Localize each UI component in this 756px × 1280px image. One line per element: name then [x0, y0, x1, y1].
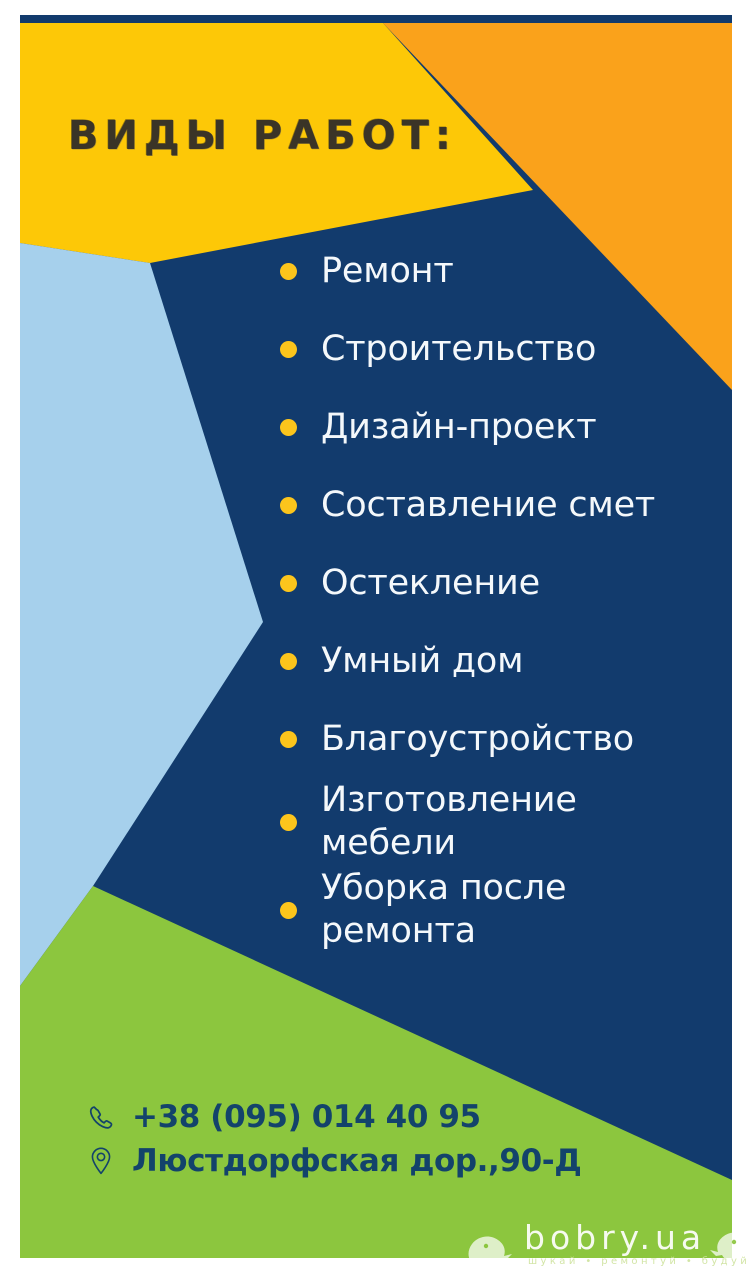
- bullet-icon: [280, 902, 297, 919]
- beaver-eye-right: [732, 1240, 736, 1244]
- phone-icon: [86, 1101, 116, 1133]
- list-item: Ремонт: [280, 232, 740, 310]
- service-label: Составление смет: [321, 484, 655, 527]
- service-label: Остекление: [321, 562, 540, 605]
- bottom-gutter: [0, 1258, 466, 1280]
- phone-number: +38 (095) 014 40 95: [132, 1100, 481, 1134]
- service-label: Строительство: [321, 328, 596, 371]
- top-gutter: [0, 0, 756, 15]
- watermark-tagline: шукай • ремонтуй • будуй: [528, 1256, 750, 1267]
- service-label: Дизайн-проект: [321, 406, 596, 449]
- list-item: Остекление: [280, 544, 740, 622]
- service-label: Уборка после ремонта: [321, 867, 566, 953]
- list-item: Умный дом: [280, 622, 740, 700]
- beaver-icon: [469, 1237, 512, 1274]
- beaver-eye-left: [484, 1244, 488, 1248]
- contact-phone-row[interactable]: +38 (095) 014 40 95: [86, 1100, 706, 1134]
- poster: ВИДЫ РАБОТ: Ремонт Строительство Дизайн-…: [0, 0, 756, 1280]
- list-item: Строительство: [280, 310, 740, 388]
- watermark: bobry.ua шукай • ремонтуй • будуй: [466, 1216, 756, 1280]
- service-label: Умный дом: [321, 640, 523, 683]
- list-item: Уборка после ремонта: [280, 866, 740, 954]
- service-label: Изготовление мебели: [321, 779, 577, 865]
- contact-address-row[interactable]: Люстдорфская дор.,90-Д: [86, 1144, 706, 1178]
- address-text: Люстдорфская дор.,90-Д: [132, 1144, 581, 1178]
- bullet-icon: [280, 731, 297, 748]
- contact-block: +38 (095) 014 40 95 Люстдорфская дор.,90…: [86, 1100, 706, 1188]
- left-gutter: [0, 0, 20, 1280]
- list-item: Составление смет: [280, 466, 740, 544]
- page-title: ВИДЫ РАБОТ:: [68, 108, 457, 164]
- service-label: Благоустройство: [321, 718, 634, 761]
- list-item: Дизайн-проект: [280, 388, 740, 466]
- bullet-icon: [280, 575, 297, 592]
- watermark-brand: bobry.ua: [524, 1218, 706, 1258]
- bullet-icon: [280, 341, 297, 358]
- bullet-icon: [280, 814, 297, 831]
- bullet-icon: [280, 653, 297, 670]
- title-area: ВИДЫ РАБОТ:: [0, 108, 560, 178]
- services-list: Ремонт Строительство Дизайн-проект Соста…: [280, 232, 740, 954]
- bullet-icon: [280, 419, 297, 436]
- list-item: Благоустройство: [280, 700, 740, 778]
- location-pin-icon: [86, 1145, 116, 1177]
- bullet-icon: [280, 497, 297, 514]
- list-item: Изготовление мебели: [280, 778, 740, 866]
- bullet-icon: [280, 263, 297, 280]
- service-label: Ремонт: [321, 250, 454, 293]
